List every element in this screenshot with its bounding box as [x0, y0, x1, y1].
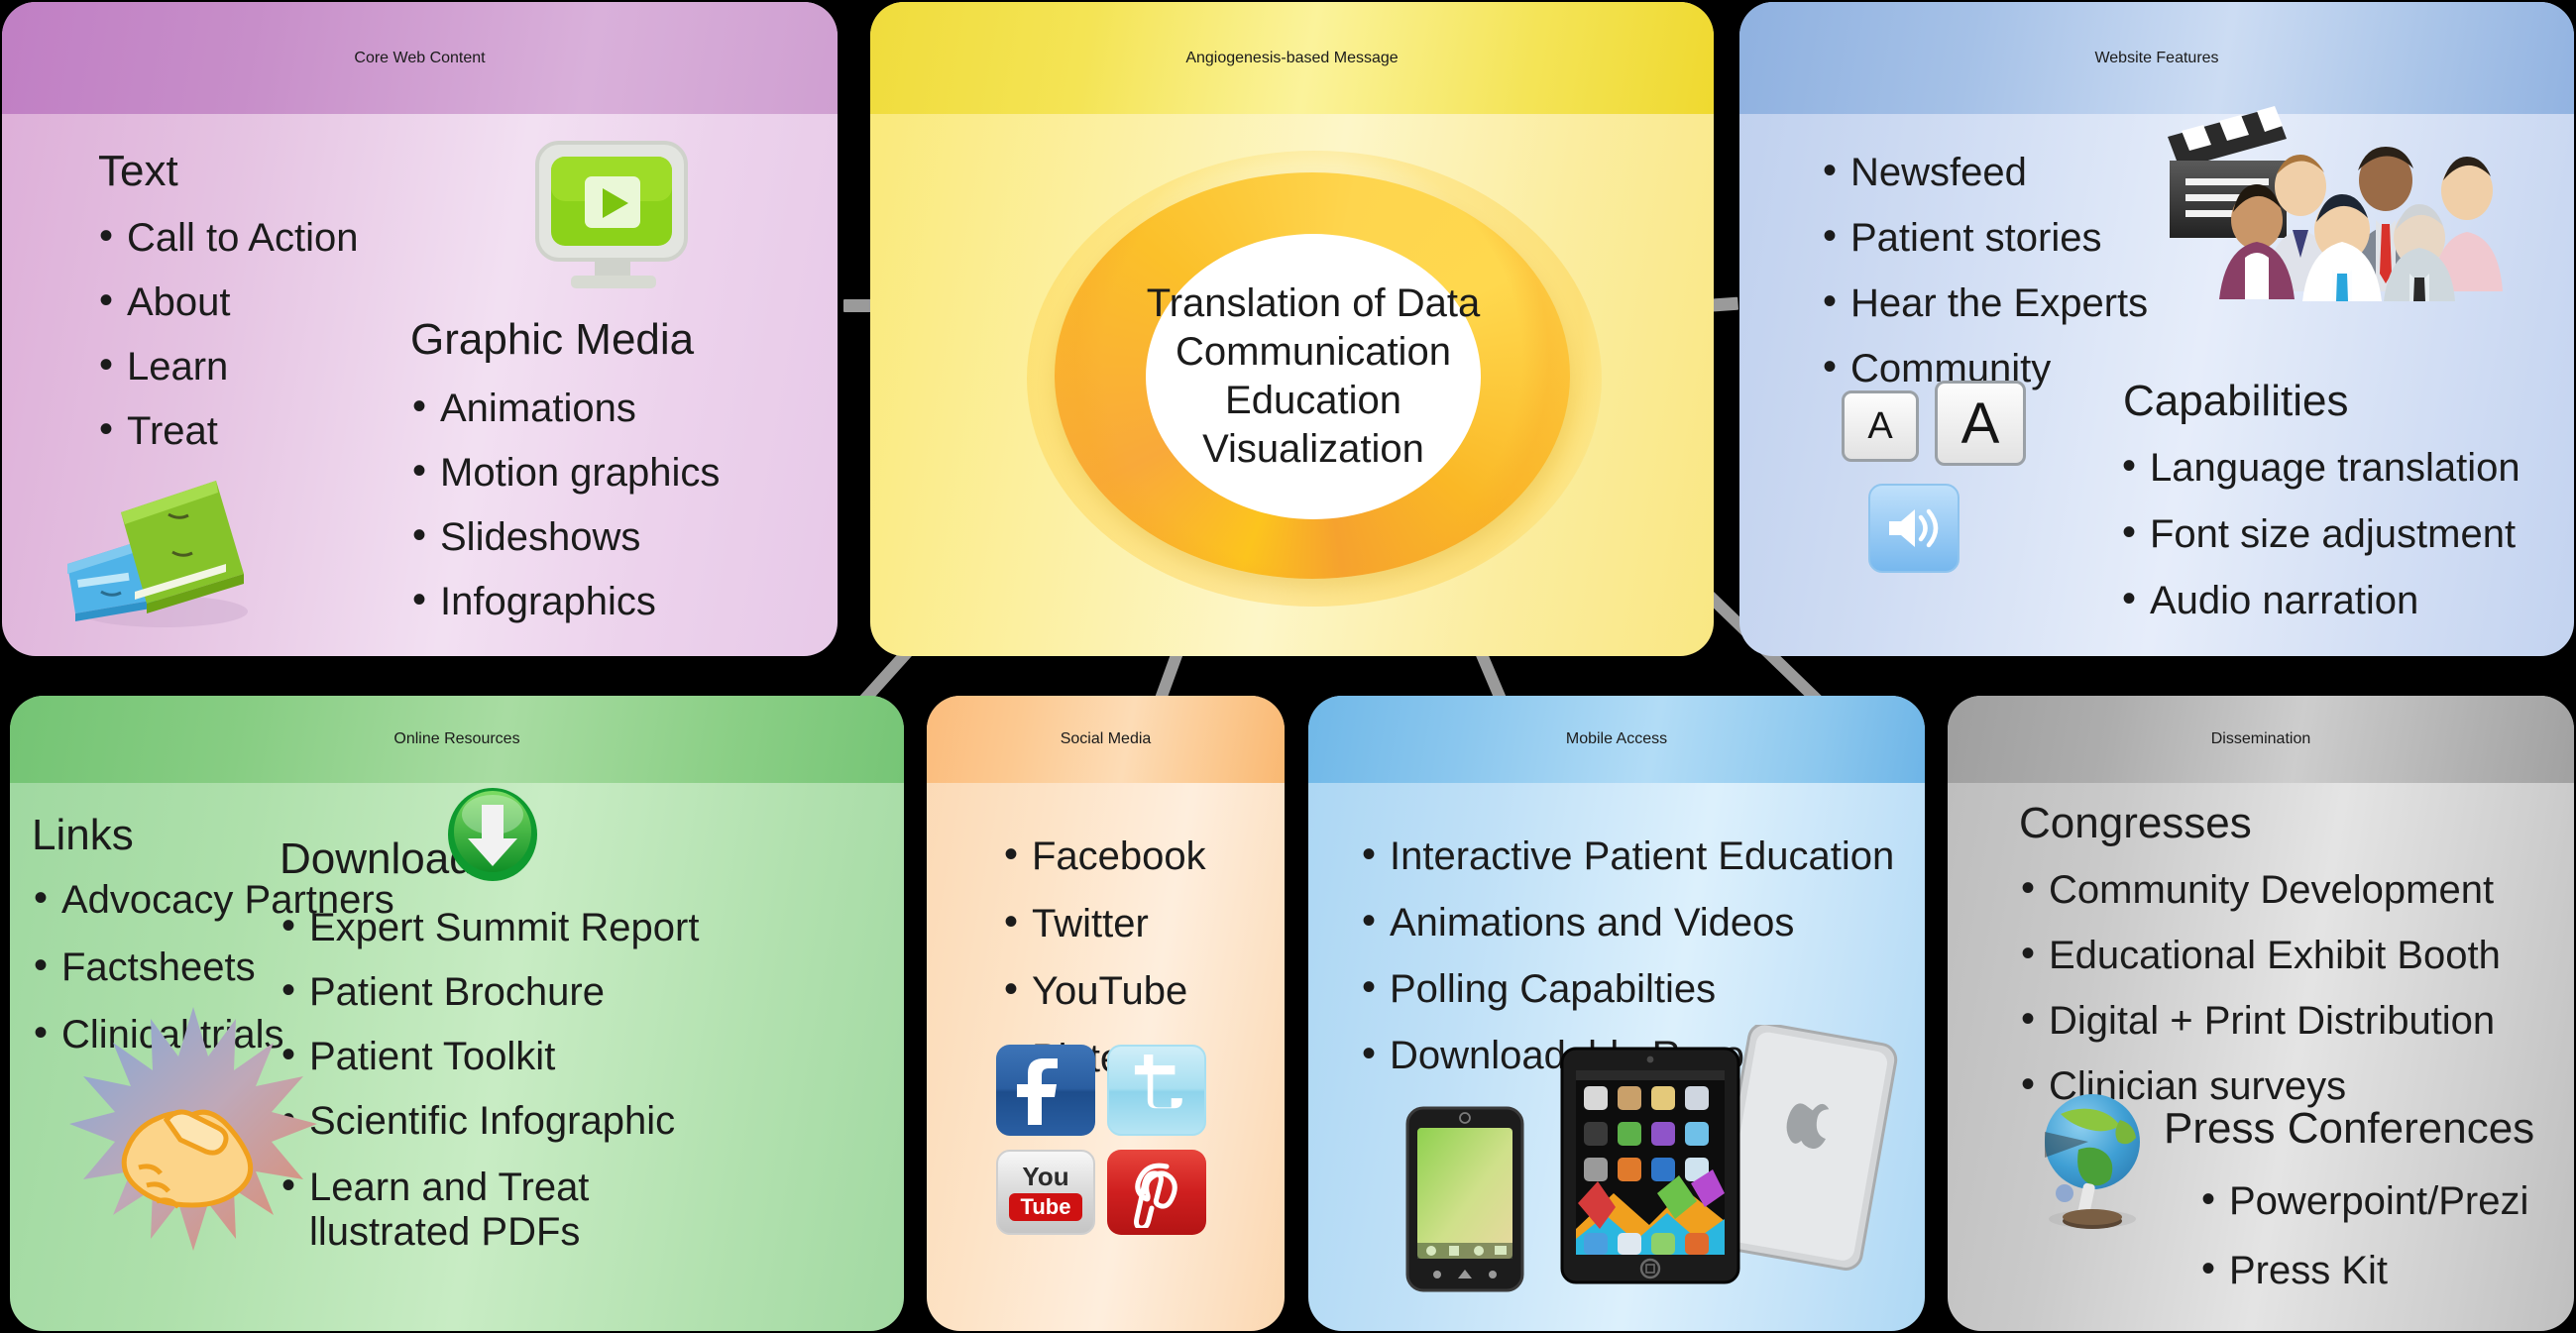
panel-body-angiogenesis: Translation of Data Communication Educat… [870, 2, 1714, 656]
font-size-large-icon[interactable]: A [1935, 381, 2026, 466]
list-graphic-media-items: Animations Motion graphics Slideshows In… [406, 389, 803, 621]
list-capabilities: Language translation Font size adjustmen… [2116, 448, 2562, 620]
hub-line: Education [1225, 377, 1401, 425]
list-item[interactable]: Powerpoint/Prezi [2195, 1181, 2574, 1221]
panel-body-mobile-access: Interactive Patient Education Animations… [1308, 696, 1925, 1331]
font-size-small-label: A [1867, 405, 1892, 448]
list-item[interactable]: Educational Exhibit Booth [2015, 936, 2550, 975]
hub-line: Communication [1176, 328, 1451, 377]
globe-icon [2025, 1088, 2160, 1237]
handshake-burst-icon [69, 1005, 317, 1253]
list-item[interactable]: Animations and Videos [1356, 903, 1925, 943]
list-item[interactable]: Press Kit [2195, 1251, 2574, 1290]
books-icon [50, 453, 268, 631]
facebook-icon[interactable] [996, 1045, 1095, 1136]
panel-mobile-access[interactable]: Mobile Access Interactive Patient Educat… [1308, 696, 1925, 1331]
list-item[interactable]: Call to Action [93, 218, 470, 258]
panel-body-core-web-content: Text Call to Action About Learn Treat Gr… [2, 2, 838, 656]
list-item[interactable]: Animations [406, 389, 803, 428]
hub-donut: Translation of Data Communication Educat… [1027, 151, 1602, 607]
list-item[interactable]: Font size adjustment [2116, 514, 2562, 554]
list-item[interactable]: Digital + Print Distribution [2015, 1001, 2550, 1041]
list-item[interactable]: Twitter [998, 904, 1285, 944]
list-item[interactable]: Interactive Patient Education [1356, 836, 1925, 876]
list-item[interactable]: Patient Toolkit [276, 1037, 831, 1076]
list-press-conferences: Powerpoint/Prezi Press Kit [2195, 1181, 2574, 1290]
list-item[interactable]: Facebook [998, 836, 1285, 876]
list-item[interactable]: Scientific Infographic [276, 1101, 831, 1141]
smartphone-icon [1403, 1104, 1526, 1294]
hub-line: Translation of Data [1147, 279, 1480, 328]
list-congresses: Community Development Educational Exhibi… [2015, 870, 2550, 1106]
list-item[interactable]: Audio narration [2116, 581, 2562, 620]
youtube-you-text: You [1022, 1164, 1068, 1189]
speaker-icon[interactable] [1868, 484, 1960, 573]
panel-body-online-resources: Links Advocacy Partners Factsheets Clini… [10, 696, 904, 1331]
twitter-glyph [1109, 1047, 1208, 1138]
font-size-small-icon[interactable]: A [1842, 390, 1919, 462]
list-item[interactable]: Slideshows [406, 517, 803, 557]
list-item[interactable]: Learn and Treat llustrated PDFs [276, 1166, 831, 1255]
tablet-front-icon [1558, 1045, 1742, 1286]
pinterest-icon[interactable] [1107, 1150, 1206, 1235]
list-item[interactable]: Expert Summit Report [276, 908, 831, 947]
diagram-canvas: Core Web Content Text Call to Action Abo… [0, 0, 2576, 1333]
pinterest-glyph [1125, 1157, 1188, 1228]
panel-core-web-content[interactable]: Core Web Content Text Call to Action Abo… [2, 2, 838, 656]
list-item[interactable]: YouTube [998, 971, 1285, 1011]
list-item[interactable]: Polling Capabilties [1356, 969, 1925, 1009]
panel-social-media[interactable]: Social Media Facebook Twitter YouTube Pi… [927, 696, 1285, 1331]
panel-body-dissemination: Congresses Community Development Educati… [1948, 696, 2574, 1331]
panel-body-website-features: Newsfeed Patient stories Hear the Expert… [1739, 2, 2574, 656]
monitor-play-icon [525, 139, 714, 297]
youtube-icon[interactable]: You Tube [996, 1150, 1095, 1235]
speaker-glyph [1883, 503, 1945, 553]
list-social-networks: Facebook Twitter YouTube Pinterest [998, 836, 1285, 1078]
clapperboard-people-icon [2154, 79, 2570, 307]
list-downloads: Expert Summit Report Patient Brochure Pa… [276, 908, 831, 1255]
list-item[interactable]: Patient Brochure [276, 972, 831, 1012]
group-heading-text: Text [98, 149, 178, 194]
group-heading-graphic-media: Graphic Media [410, 317, 694, 363]
group-heading-links: Links [32, 813, 134, 858]
download-arrow-icon[interactable] [446, 787, 539, 882]
list-item[interactable]: Infographics [406, 582, 803, 621]
panel-website-features[interactable]: Website Features Newsfeed Patient storie… [1739, 2, 2574, 656]
facebook-glyph [996, 1045, 1095, 1136]
panel-angiogenesis-message[interactable]: Angiogenesis-based Message Translation o… [870, 2, 1714, 656]
twitter-icon[interactable] [1107, 1045, 1206, 1136]
list-item[interactable]: Language translation [2116, 448, 2562, 488]
youtube-tube-badge: Tube [1009, 1193, 1083, 1221]
panel-body-social-media: Facebook Twitter YouTube Pinterest You [927, 696, 1285, 1331]
list-item[interactable]: Community Development [2015, 870, 2550, 910]
hub-line: Visualization [1202, 425, 1424, 474]
panel-dissemination[interactable]: Dissemination Congresses Community Devel… [1948, 696, 2574, 1331]
panel-online-resources[interactable]: Online Resources Links Advocacy Partners… [10, 696, 904, 1331]
group-heading-capabilities: Capabilities [2123, 379, 2348, 424]
list-item[interactable]: Motion graphics [406, 453, 803, 493]
font-size-large-label: A [1961, 390, 2000, 457]
group-heading-congresses: Congresses [2019, 801, 2252, 846]
hub-center: Translation of Data Communication Educat… [1146, 234, 1481, 519]
group-heading-press-conferences: Press Conferences [2164, 1106, 2534, 1152]
